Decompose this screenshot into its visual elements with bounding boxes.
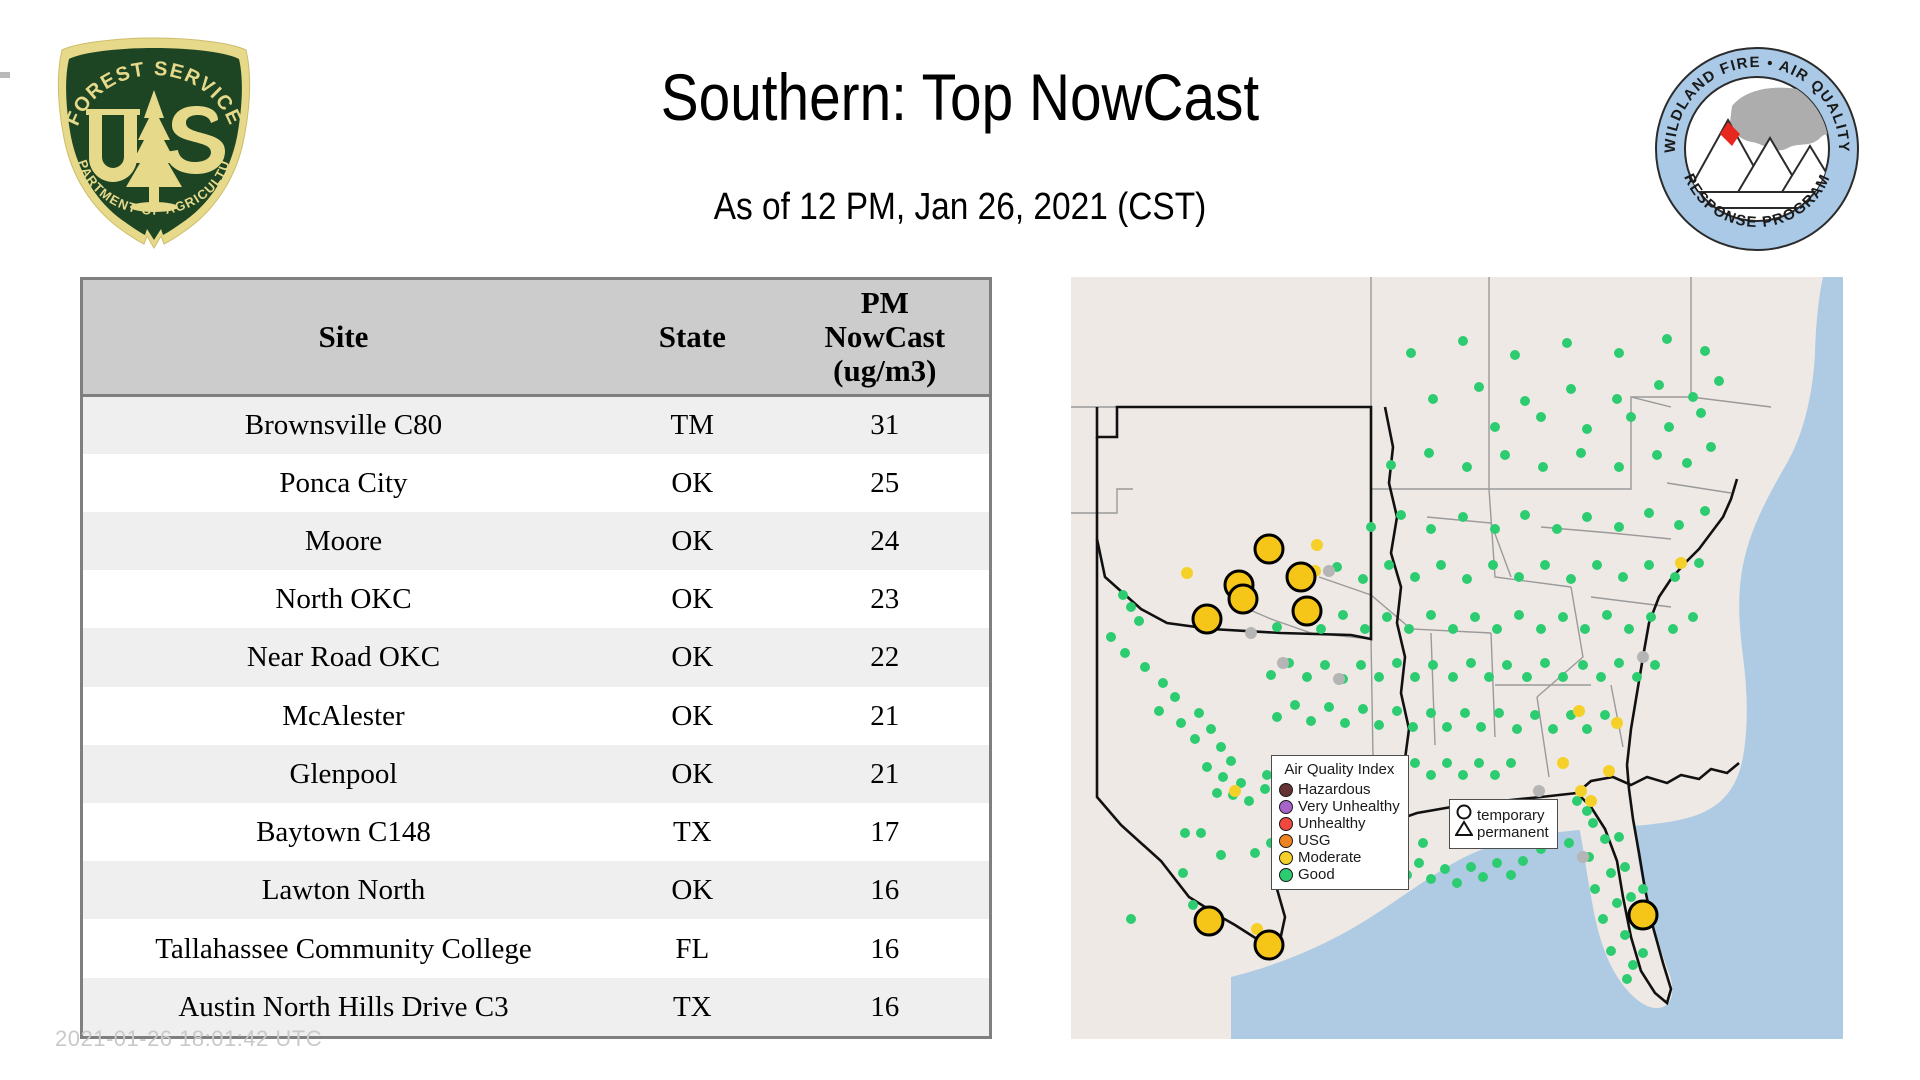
marker-legend-shapes [1455,804,1473,843]
aqi-legend-item: USG [1279,832,1400,849]
aqi-legend-item: Very Unhealthy [1279,798,1400,815]
cell-state: OK [604,861,781,919]
aqi-legend-label: Very Unhealthy [1298,798,1400,815]
cell-state: TM [604,396,781,454]
aqi-legend-swatch-icon [1279,800,1293,814]
aqi-legend-title: Air Quality Index [1279,761,1400,778]
slide-canvas: FOREST SERVICE DEPARTMENT OF AGRICULTURE [0,0,1920,1080]
aqi-legend-label: Good [1298,866,1335,883]
temporary-circle-icon [1458,806,1471,819]
aqi-legend-item: Good [1279,866,1400,883]
top-nowcast-table: Site State PM NowCast (ug/m3) Brownsvill… [80,277,992,1039]
marker-type-legend: temporary permanent [1449,799,1558,849]
cell-pm-nowcast: 25 [781,454,989,512]
aqi-legend-label: USG [1298,832,1331,849]
table-row: Near Road OKCOK22 [83,628,989,686]
aqi-legend-swatch-icon [1279,868,1293,882]
table-row: North OKCOK23 [83,570,989,628]
aqi-legend-item: Unhealthy [1279,815,1400,832]
cell-pm-nowcast: 31 [781,396,989,454]
column-header-site: Site [83,280,604,396]
cell-pm-nowcast: 21 [781,687,989,745]
cell-state: TX [604,978,781,1036]
cell-state: OK [604,512,781,570]
aqi-legend-swatch-icon [1279,834,1293,848]
table-row: GlenpoolOK21 [83,745,989,803]
cell-pm-nowcast: 21 [781,745,989,803]
cell-state: OK [604,628,781,686]
page-subtitle: As of 12 PM, Jan 26, 2021 (CST) [406,184,1515,230]
cell-state: OK [604,454,781,512]
cell-pm-nowcast: 22 [781,628,989,686]
usfs-shield-logo: FOREST SERVICE DEPARTMENT OF AGRICULTURE [48,30,260,258]
cell-site: McAlester [83,687,604,745]
table-row: Lawton NorthOK16 [83,861,989,919]
aqi-legend-swatch-icon [1279,817,1293,831]
aqi-legend: Air Quality Index HazardousVery Unhealth… [1271,755,1409,890]
cell-site: North OKC [83,570,604,628]
aqi-legend-item: Hazardous [1279,781,1400,798]
cell-site: Near Road OKC [83,628,604,686]
page-title: Southern: Top NowCast [418,58,1502,136]
aqi-legend-label: Hazardous [1298,781,1371,798]
cell-site: Moore [83,512,604,570]
southern-region-air-quality-map[interactable]: Air Quality Index HazardousVery Unhealth… [1071,277,1843,1039]
cell-state: TX [604,803,781,861]
column-header-pm-nowcast: PM NowCast (ug/m3) [781,280,989,396]
left-edge-tick [0,72,10,78]
cell-pm-nowcast: 16 [781,978,989,1036]
aqi-legend-label: Unhealthy [1298,815,1366,832]
table-row: Ponca CityOK25 [83,454,989,512]
table-row: Tallahassee Community CollegeFL16 [83,919,989,977]
marker-legend-labels: temporary permanent [1477,807,1549,841]
cell-pm-nowcast: 24 [781,512,989,570]
cell-site: Baytown C148 [83,803,604,861]
table-row: McAlesterOK21 [83,687,989,745]
cell-pm-nowcast: 16 [781,861,989,919]
aqi-legend-label: Moderate [1298,849,1361,866]
table-row: Brownsville C80TM31 [83,396,989,454]
cell-state: OK [604,745,781,803]
table-body: Brownsville C80TM31Ponca CityOK25MooreOK… [83,396,989,1037]
cell-pm-nowcast: 17 [781,803,989,861]
marker-legend-label-temporary: temporary [1477,807,1549,824]
aqi-legend-item: Moderate [1279,849,1400,866]
slide-timestamp: 2021-01-26 18:01:42 UTC [55,1026,322,1052]
table-row: MooreOK24 [83,512,989,570]
marker-legend-label-permanent: permanent [1477,824,1549,841]
cell-site: Tallahassee Community College [83,919,604,977]
table-header-row: Site State PM NowCast (ug/m3) [83,280,989,396]
table-row: Baytown C148TX17 [83,803,989,861]
cell-state: OK [604,570,781,628]
cell-pm-nowcast: 16 [781,919,989,977]
cell-site: Glenpool [83,745,604,803]
cell-state: FL [604,919,781,977]
cell-site: Ponca City [83,454,604,512]
column-header-state: State [604,280,781,396]
aqi-legend-swatch-icon [1279,783,1293,797]
aqi-legend-rows: HazardousVery UnhealthyUnhealthyUSGModer… [1279,781,1400,883]
cell-pm-nowcast: 23 [781,570,989,628]
cell-site: Lawton North [83,861,604,919]
permanent-triangle-icon [1456,822,1472,835]
cell-site: Brownsville C80 [83,396,604,454]
wildland-fire-air-quality-response-program-logo: WILDLAND FIRE • AIR QUALITY RESPONSE PRO… [1652,44,1862,254]
cell-state: OK [604,687,781,745]
aqi-legend-swatch-icon [1279,851,1293,865]
